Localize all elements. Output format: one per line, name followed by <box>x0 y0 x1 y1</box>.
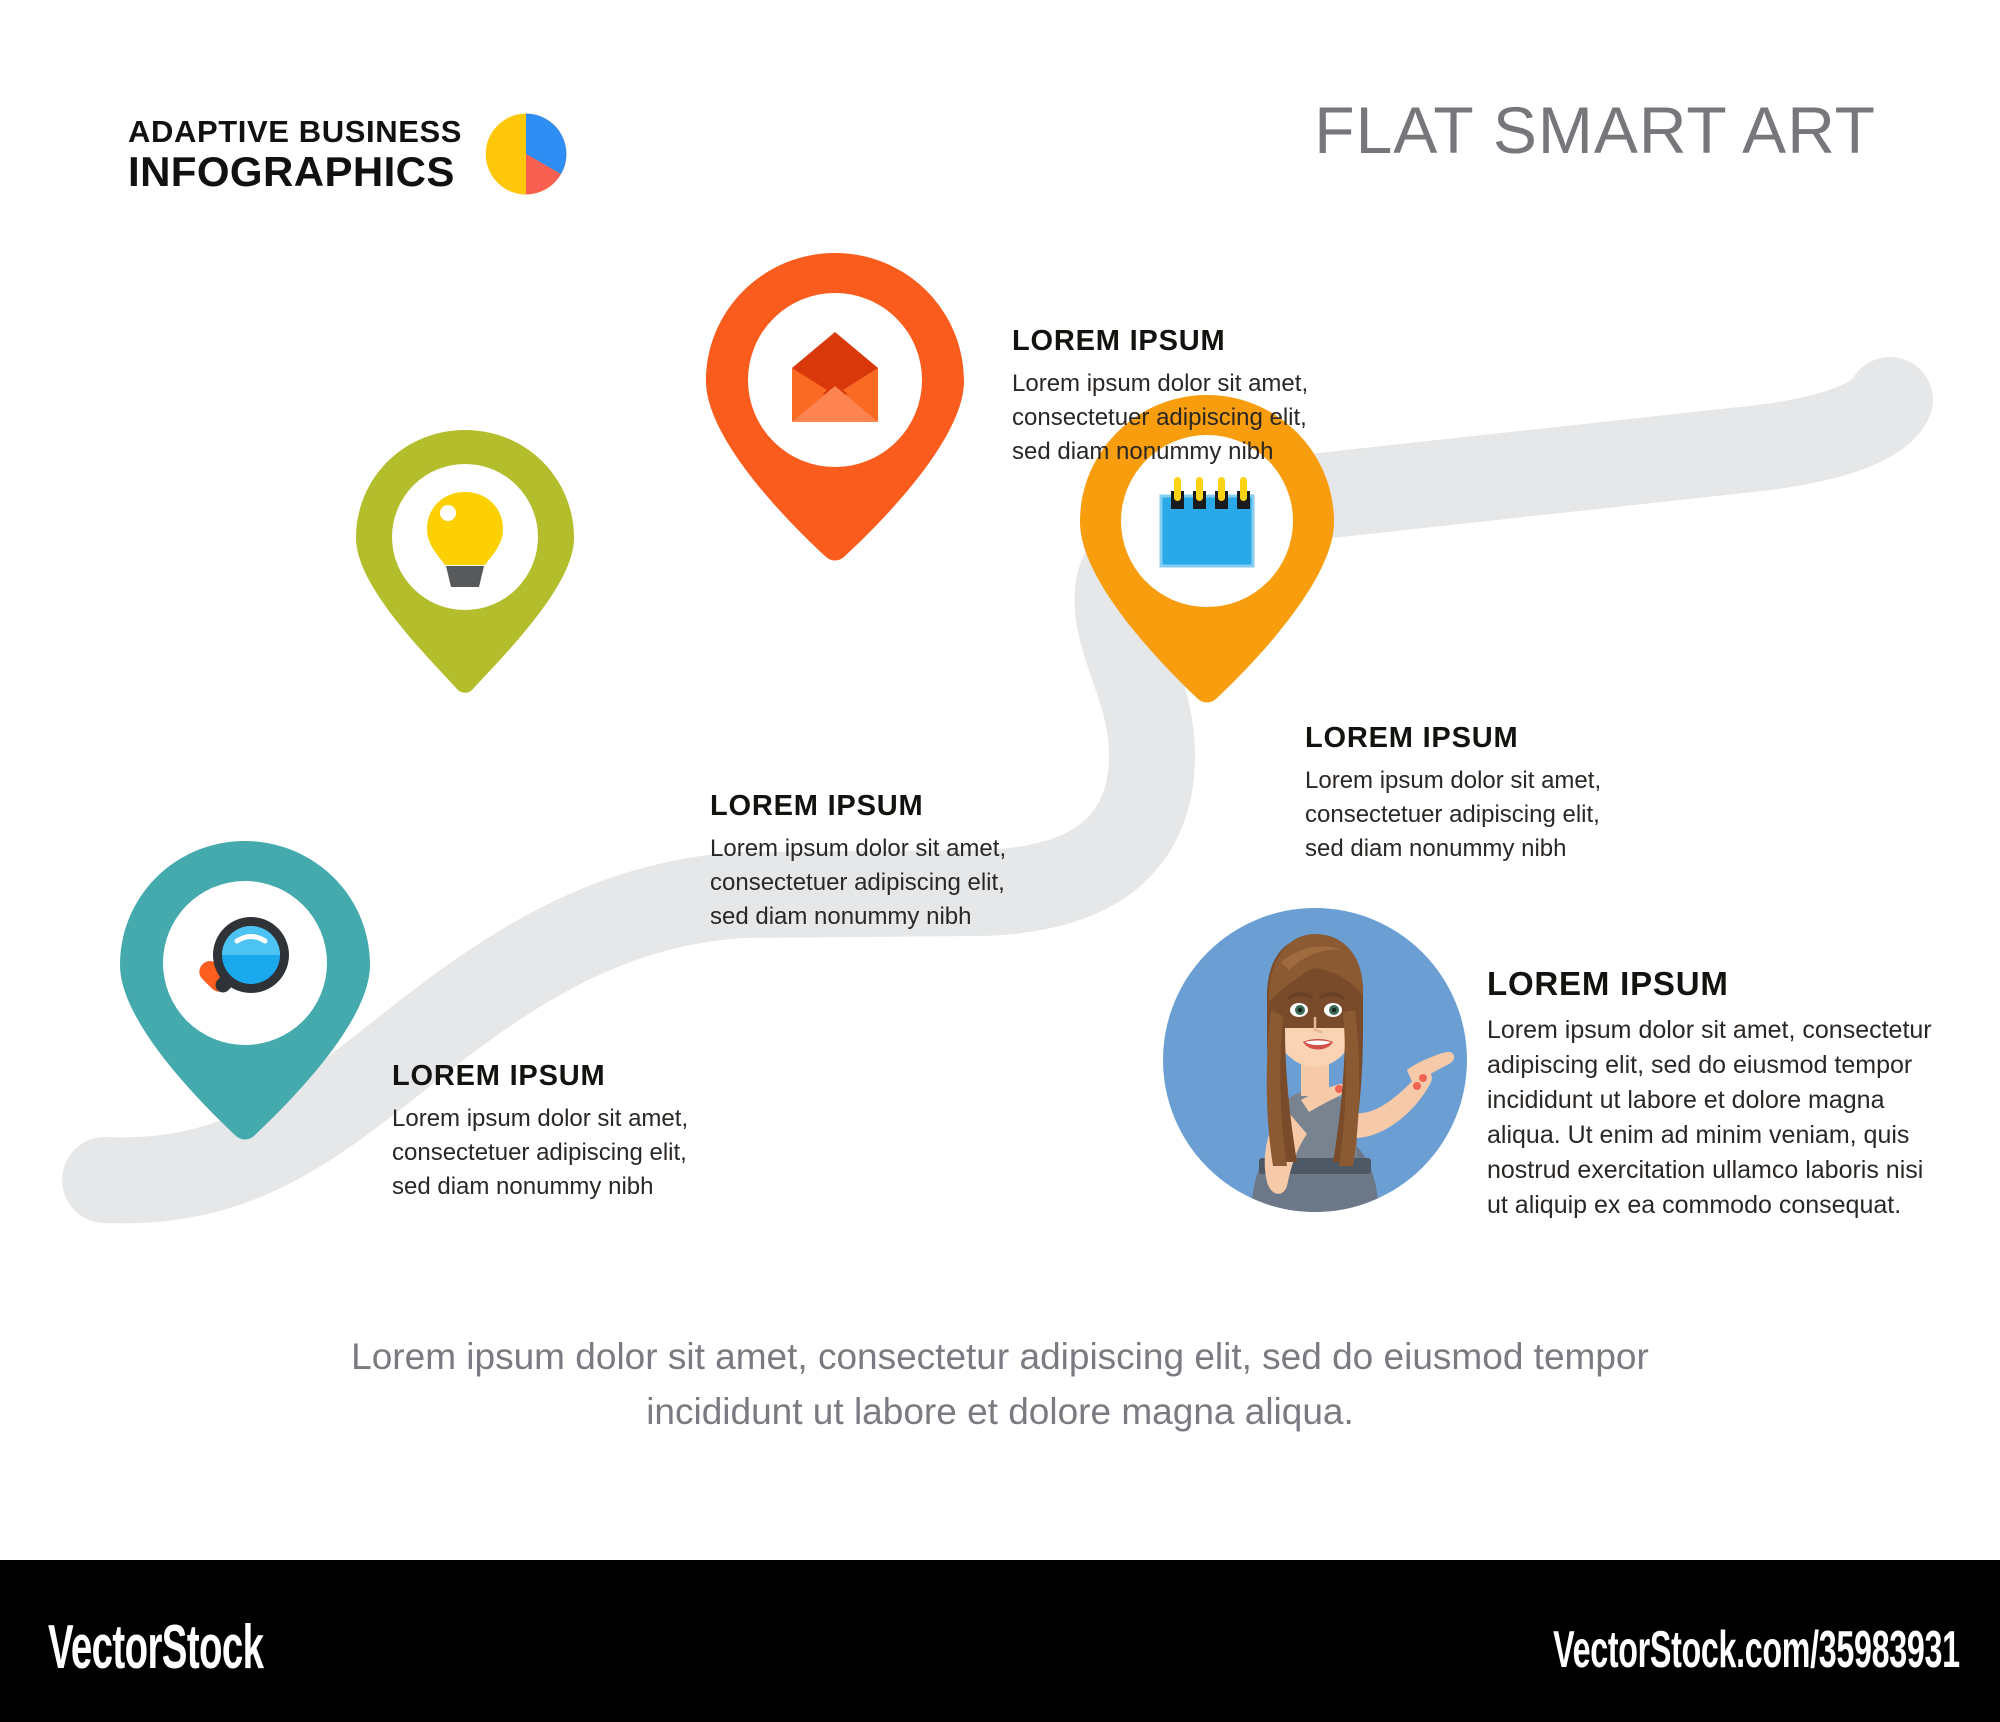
pie-chart-icon <box>484 112 568 196</box>
body-line: consectetuer adipiscing elit, <box>1012 401 1308 435</box>
bottom-caption: Lorem ipsum dolor sit amet, consectetur … <box>0 1330 2000 1440</box>
step-idea-heading: LOREM IPSUM <box>710 790 1006 823</box>
text-block-step-mail: LOREM IPSUM Lorem ipsum dolor sit amet, … <box>1012 325 1308 469</box>
presenter-heading: LOREM IPSUM <box>1487 965 1932 1003</box>
step-search-body: Lorem ipsum dolor sit amet, consectetuer… <box>392 1102 688 1204</box>
text-block-step-search: LOREM IPSUM Lorem ipsum dolor sit amet, … <box>392 1060 688 1204</box>
body-line: consectetuer adipiscing elit, <box>1305 798 1601 832</box>
body-line: ut aliquip ex ea commodo consequat. <box>1487 1188 1932 1223</box>
body-line: incididunt ut labore et dolore magna <box>1487 1083 1932 1118</box>
body-line: sed diam nonummy nibh <box>710 900 1006 934</box>
step-calendar-body: Lorem ipsum dolor sit amet, consectetuer… <box>1305 764 1601 866</box>
body-line: Lorem ipsum dolor sit amet, <box>392 1102 688 1136</box>
pin-step-search[interactable] <box>100 835 390 1145</box>
body-line: nostrud exercitation ullamco laboris nis… <box>1487 1153 1932 1188</box>
body-line: Lorem ipsum dolor sit amet, consectetur <box>1487 1013 1932 1048</box>
body-line: Lorem ipsum dolor sit amet, <box>1305 764 1601 798</box>
vectorstock-logo: VectorStock <box>48 1612 263 1683</box>
brand-line-2: INFOGRAPHICS <box>128 151 462 193</box>
step-idea-body: Lorem ipsum dolor sit amet, consectetuer… <box>710 832 1006 934</box>
brand-line-1: ADAPTIVE BUSINESS <box>128 116 462 147</box>
caption-line: Lorem ipsum dolor sit amet, consectetur … <box>0 1330 2000 1385</box>
body-line: aliqua. Ut enim ad minim veniam, quis <box>1487 1118 1932 1153</box>
body-line: consectetuer adipiscing elit, <box>710 866 1006 900</box>
body-line: Lorem ipsum dolor sit amet, <box>1012 367 1308 401</box>
step-calendar-heading: LOREM IPSUM <box>1305 722 1601 755</box>
watermark-footer: VectorStock VectorStock.com/35983931 <box>0 1560 2000 1722</box>
infographic-canvas: ADAPTIVE BUSINESS INFOGRAPHICS FLAT SMAR… <box>0 0 2000 1560</box>
body-line: consectetuer adipiscing elit, <box>392 1136 688 1170</box>
text-block-step-calendar: LOREM IPSUM Lorem ipsum dolor sit amet, … <box>1305 722 1601 866</box>
step-mail-body: Lorem ipsum dolor sit amet, consectetuer… <box>1012 367 1308 469</box>
road-path <box>0 0 2000 1560</box>
body-line: sed diam nonummy nibh <box>1305 832 1601 866</box>
vectorstock-url: VectorStock.com/35983931 <box>1553 1620 1960 1680</box>
presenter-body: Lorem ipsum dolor sit amet, consectetur … <box>1487 1013 1932 1223</box>
woman-pointing-avatar <box>1155 900 1475 1220</box>
text-block-step-idea: LOREM IPSUM Lorem ipsum dolor sit amet, … <box>710 790 1006 934</box>
text-block-presenter: LOREM IPSUM Lorem ipsum dolor sit amet, … <box>1487 965 1932 1223</box>
step-mail-heading: LOREM IPSUM <box>1012 325 1308 358</box>
pin-step-mail[interactable] <box>700 248 970 568</box>
caption-line: incididunt ut labore et dolore magna ali… <box>0 1385 2000 1440</box>
body-line: sed diam nonummy nibh <box>392 1170 688 1204</box>
body-line: Lorem ipsum dolor sit amet, <box>710 832 1006 866</box>
brand-text: ADAPTIVE BUSINESS INFOGRAPHICS <box>128 116 462 193</box>
body-line: adipiscing elit, sed do eiusmod tempor <box>1487 1048 1932 1083</box>
body-line: sed diam nonummy nibh <box>1012 435 1308 469</box>
pin-step-idea[interactable] <box>350 425 580 700</box>
step-search-heading: LOREM IPSUM <box>392 1060 688 1093</box>
brand-logo: ADAPTIVE BUSINESS INFOGRAPHICS <box>128 112 568 196</box>
page-title: FLAT SMART ART <box>1314 92 1876 168</box>
